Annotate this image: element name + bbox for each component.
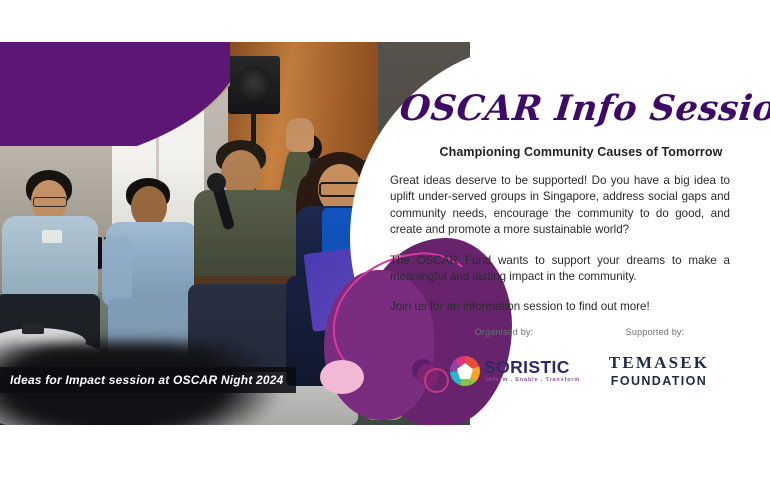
content-panel-inner: OSCAR Info Session Championing Community… (390, 42, 762, 425)
organised-by-column: Organised by: (424, 327, 584, 337)
body-paragraph-1: Great ideas deserve to be supported! Do … (390, 173, 730, 239)
screenshot-root: Ideas for Impact session at OSCAR Night … (0, 0, 770, 480)
soristic-logo: SORISTIC Inform . Enable . Transform (404, 351, 594, 395)
temasek-wordmark-line2: FOUNDATION (584, 374, 734, 388)
supported-by-column: Supported by: (580, 327, 730, 337)
body-paragraph-3: Join us for an information session to fi… (390, 299, 730, 315)
body-paragraph-2: The OSCAR Fund wants to support your dre… (390, 253, 730, 286)
soristic-tagline: Inform . Enable . Transform (486, 377, 580, 383)
body-copy: Great ideas deserve to be supported! Do … (390, 173, 730, 316)
decorative-swoosh-top-left (0, 42, 230, 146)
temasek-foundation-logo: TEMASEK FOUNDATION (584, 353, 734, 388)
temasek-wordmark-line1: TEMASEK (584, 353, 734, 373)
organised-by-label: Organised by: (424, 327, 584, 337)
swoosh-layer-purple-2 (0, 42, 230, 146)
page-title: OSCAR Info Session (398, 88, 762, 129)
page-subtitle: Championing Community Causes of Tomorrow (390, 145, 770, 159)
supported-by-label: Supported by: (580, 327, 730, 337)
decorative-blob-pink (320, 360, 364, 394)
pinwheel-icon (450, 356, 480, 386)
photo-caption: Ideas for Impact session at OSCAR Night … (0, 367, 296, 393)
flyer-card: Ideas for Impact session at OSCAR Night … (0, 42, 770, 425)
content-panel: OSCAR Info Session Championing Community… (350, 42, 770, 425)
overlapping-circles-icon (412, 359, 446, 389)
credits-section: Organised by: Supported by: SORISTIC Inf… (410, 327, 750, 407)
soristic-wordmark: SORISTIC (484, 357, 570, 378)
